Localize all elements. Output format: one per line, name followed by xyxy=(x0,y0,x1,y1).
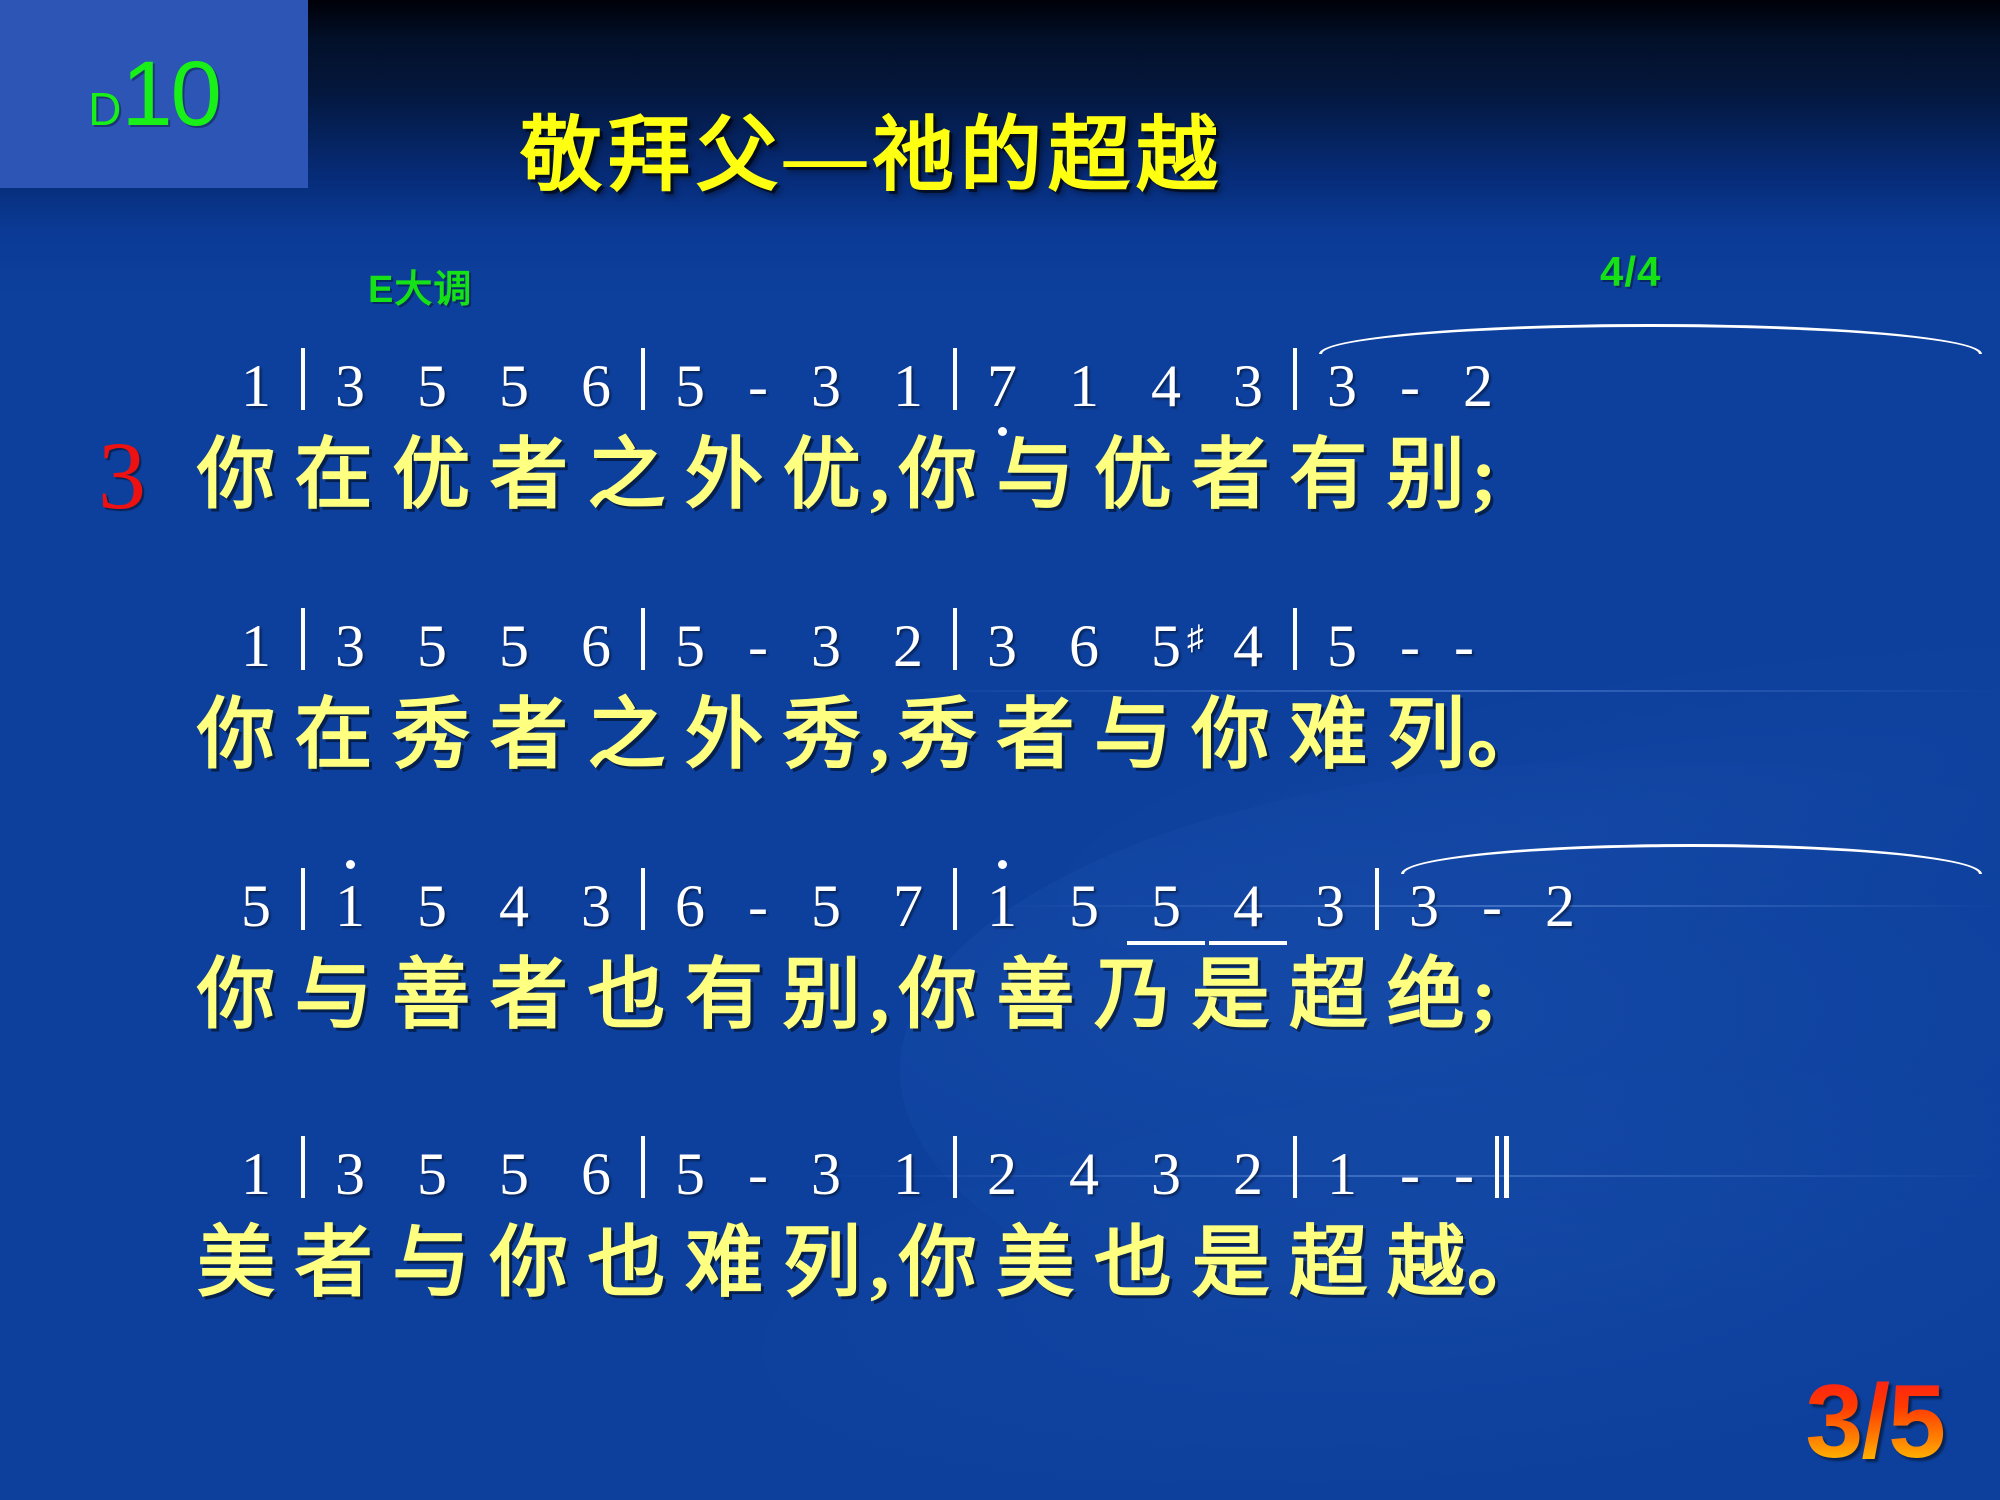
lyric-character: 列 xyxy=(1385,676,1467,794)
barline xyxy=(1293,608,1297,670)
lyric-character: 善 xyxy=(994,936,1076,1054)
note-number: 1 xyxy=(961,876,1043,936)
octave-up-dot-icon xyxy=(998,860,1007,869)
lyric-character: 难 xyxy=(683,1204,765,1322)
note-number: 4 xyxy=(1043,1144,1125,1204)
barline xyxy=(301,1136,305,1198)
notation-line: 135565-3236545-- xyxy=(0,590,2000,676)
note-number: 5 xyxy=(1301,616,1383,676)
music-system: 135565-3236545-- 你 在 秀 者 之 外 秀,秀 者 与 你 难… xyxy=(0,590,2000,796)
lyric-character: 绝 xyxy=(1385,936,1467,1054)
music-system: 135565-3124321-- 美 者 与 你 也 难 列,你 美 也 是 超… xyxy=(0,1118,2000,1324)
time-signature-label: 4/4 xyxy=(1600,248,1661,296)
note-number: 3 xyxy=(309,616,391,676)
note-number: 3 xyxy=(1383,876,1465,936)
lyric-character: 超 xyxy=(1287,1204,1369,1322)
note-number: 3 xyxy=(961,616,1043,676)
note-number: 7 xyxy=(867,876,949,936)
lyric-punctuation: 。 xyxy=(1467,676,1501,794)
note-number: 5 xyxy=(391,356,473,416)
note-number: 4 xyxy=(1125,356,1207,416)
hymn-code-badge: D 10 xyxy=(0,0,308,188)
lyric-character: 你 xyxy=(1190,676,1272,794)
lyric-character: 你 xyxy=(897,936,979,1054)
note-number: 5 xyxy=(649,1144,731,1204)
lyric-character: 你 xyxy=(195,936,277,1054)
lyric-punctuation: , xyxy=(863,936,897,1054)
note-number: 2 xyxy=(867,616,949,676)
note-number: 3 xyxy=(1207,356,1289,416)
barline xyxy=(953,608,957,670)
note-number: 2 xyxy=(1519,876,1601,936)
note-number: 5 xyxy=(649,356,731,416)
hymn-code-badge-inner: D 10 xyxy=(88,42,220,147)
note-number: 3 xyxy=(309,356,391,416)
lyric-line: 你 与 善 者 也 有 别,你 善 乃 是 超 绝; xyxy=(0,936,2000,1056)
note-dash: - xyxy=(731,876,785,936)
key-signature-label: E大调 xyxy=(368,258,472,313)
lyric-character: 与 xyxy=(994,416,1076,534)
lyric-punctuation: , xyxy=(863,1204,897,1322)
lyric-character: 善 xyxy=(390,936,472,1054)
note-number: 6 xyxy=(1043,616,1125,676)
barline xyxy=(301,868,305,930)
note-number: 5 xyxy=(391,1144,473,1204)
note-number: 7 xyxy=(961,356,1043,416)
note-dash: - xyxy=(1465,876,1519,936)
note-number: 5 xyxy=(215,876,297,936)
lyric-character: 也 xyxy=(586,1204,668,1322)
note-number: 6 xyxy=(555,1144,637,1204)
note-number: 1 xyxy=(215,356,297,416)
lyric-character: 美 xyxy=(994,1204,1076,1322)
notation-line: 515436-57155433-2 xyxy=(0,850,2000,936)
note-dash: - xyxy=(731,1144,785,1204)
note-number: 3 xyxy=(555,876,637,936)
note-number: 5 xyxy=(649,616,731,676)
lyric-character: 你 xyxy=(897,1204,979,1322)
notation-line: 135565-3171433-2 xyxy=(0,330,2000,416)
lyric-punctuation: , xyxy=(863,416,897,534)
lyric-line: 你 在 优 者 之 外 优,你 与 优 者 有 别; xyxy=(0,416,2000,536)
barline xyxy=(641,608,645,670)
lyric-character: 是 xyxy=(1190,936,1272,1054)
notation-line: 135565-3124321-- xyxy=(0,1118,2000,1204)
barline xyxy=(641,1136,645,1198)
note-dash: - xyxy=(731,356,785,416)
page-number: 3/5 xyxy=(1805,1370,1944,1474)
barline xyxy=(953,1136,957,1198)
music-system: 515436-57155433-2 你 与 善 者 也 有 别,你 善 乃 是 … xyxy=(0,850,2000,1056)
note-number: 5 xyxy=(391,616,473,676)
note-number: 4 xyxy=(473,876,555,936)
barline xyxy=(1293,348,1297,410)
page-title: 敬拜父—祂的超越 xyxy=(520,88,1520,207)
lyric-character: 者 xyxy=(994,676,1076,794)
barline xyxy=(641,348,645,410)
lyric-character: 之 xyxy=(586,416,668,534)
note-number: 2 xyxy=(1207,1144,1289,1204)
note-number: 2 xyxy=(961,1144,1043,1204)
lyric-punctuation: 。 xyxy=(1467,1204,1501,1322)
barline xyxy=(1375,868,1379,930)
lyric-character: 与 xyxy=(1092,676,1174,794)
note-number: 5 xyxy=(1043,876,1125,936)
lyric-character: 之 xyxy=(586,676,668,794)
note-dash: - xyxy=(1437,616,1491,676)
note-dash: - xyxy=(1383,616,1437,676)
barline xyxy=(1293,1136,1297,1198)
note-dash: - xyxy=(1383,1144,1437,1204)
note-number: 6 xyxy=(555,616,637,676)
tie-slur xyxy=(1319,324,1982,354)
lyric-character: 在 xyxy=(293,676,375,794)
lyric-line: 美 者 与 你 也 难 列,你 美 也 是 超 越。 xyxy=(0,1204,2000,1324)
note-number: 3 xyxy=(1301,356,1383,416)
barline xyxy=(641,868,645,930)
note-number: 6 xyxy=(649,876,731,936)
note-number: 5 xyxy=(1125,876,1207,936)
lyric-character: 是 xyxy=(1190,1204,1272,1322)
hymn-code-number: 10 xyxy=(121,42,219,147)
lyric-character: 也 xyxy=(586,936,668,1054)
lyric-character: 者 xyxy=(1190,416,1272,534)
note-number: 5 xyxy=(785,876,867,936)
tie-slur xyxy=(1401,844,1982,874)
lyric-line: 你 在 秀 者 之 外 秀,秀 者 与 你 难 列。 xyxy=(0,676,2000,796)
lyric-character: 难 xyxy=(1287,676,1369,794)
note-number: 4 xyxy=(1207,876,1289,936)
note-number: 1 xyxy=(867,1144,949,1204)
note-number: 5 xyxy=(391,876,473,936)
lyric-character: 外 xyxy=(683,416,765,534)
lyric-character: 优 xyxy=(390,416,472,534)
lyric-character: 也 xyxy=(1092,1204,1174,1322)
lyric-character: 超 xyxy=(1287,936,1369,1054)
lyric-character: 有 xyxy=(683,936,765,1054)
lyric-character: 美 xyxy=(195,1204,277,1322)
note-dash: - xyxy=(731,616,785,676)
note-number: 1 xyxy=(867,356,949,416)
lyric-character: 有 xyxy=(1287,416,1369,534)
note-number: 3 xyxy=(785,1144,867,1204)
lyric-character: 优 xyxy=(781,416,863,534)
hymn-code-prefix: D xyxy=(88,82,120,136)
slide-canvas: D 10 敬拜父—祂的超越 E大调 4/4 3 135565-3171433-2… xyxy=(0,0,2000,1500)
note-number: 5 xyxy=(473,356,555,416)
note-dash: - xyxy=(1383,356,1437,416)
lyric-character: 你 xyxy=(195,676,277,794)
lyric-character: 优 xyxy=(1092,416,1174,534)
note-number: 2 xyxy=(1437,356,1519,416)
barline xyxy=(953,348,957,410)
lyric-character: 与 xyxy=(293,936,375,1054)
lyric-character: 者 xyxy=(293,1204,375,1322)
barline xyxy=(301,608,305,670)
barline xyxy=(301,348,305,410)
note-number: 3 xyxy=(1289,876,1371,936)
note-number: 3 xyxy=(1125,1144,1207,1204)
lyric-character: 别 xyxy=(781,936,863,1054)
lyric-punctuation: ; xyxy=(1467,416,1501,534)
lyric-character: 者 xyxy=(488,936,570,1054)
lyric-character: 秀 xyxy=(390,676,472,794)
lyric-character: 越 xyxy=(1385,1204,1467,1322)
note-number: 3 xyxy=(309,1144,391,1204)
note-number: 1 xyxy=(1043,356,1125,416)
lyric-character: 与 xyxy=(390,1204,472,1322)
music-system: 135565-3171433-2 你 在 优 者 之 外 优,你 与 优 者 有… xyxy=(0,330,2000,536)
note-number: 1 xyxy=(215,1144,297,1204)
lyric-character: 你 xyxy=(488,1204,570,1322)
note-number: 1 xyxy=(1301,1144,1383,1204)
note-number: 3 xyxy=(785,616,867,676)
note-number: 3 xyxy=(785,356,867,416)
lyric-character: 你 xyxy=(195,416,277,534)
lyric-character: 外 xyxy=(683,676,765,794)
lyric-character: 者 xyxy=(488,676,570,794)
note-number: 5 xyxy=(473,1144,555,1204)
note-number: 6 xyxy=(555,356,637,416)
lyric-character: 秀 xyxy=(897,676,979,794)
lyric-character: 者 xyxy=(488,416,570,534)
note-number: 1 xyxy=(215,616,297,676)
lyric-character: 你 xyxy=(897,416,979,534)
lyric-character: 秀 xyxy=(781,676,863,794)
lyric-character: 乃 xyxy=(1092,936,1174,1054)
note-number: 4 xyxy=(1207,616,1289,676)
lyric-punctuation: , xyxy=(863,676,897,794)
lyric-character: 列 xyxy=(781,1204,863,1322)
octave-up-dot-icon xyxy=(346,860,355,869)
lyric-punctuation: ; xyxy=(1467,936,1501,1054)
lyric-character: 在 xyxy=(293,416,375,534)
note-number: 1 xyxy=(309,876,391,936)
final-barline xyxy=(1495,1136,1509,1198)
note-number: 5 xyxy=(473,616,555,676)
barline xyxy=(953,868,957,930)
lyric-character: 别 xyxy=(1385,416,1467,534)
note-dash: - xyxy=(1437,1144,1491,1204)
